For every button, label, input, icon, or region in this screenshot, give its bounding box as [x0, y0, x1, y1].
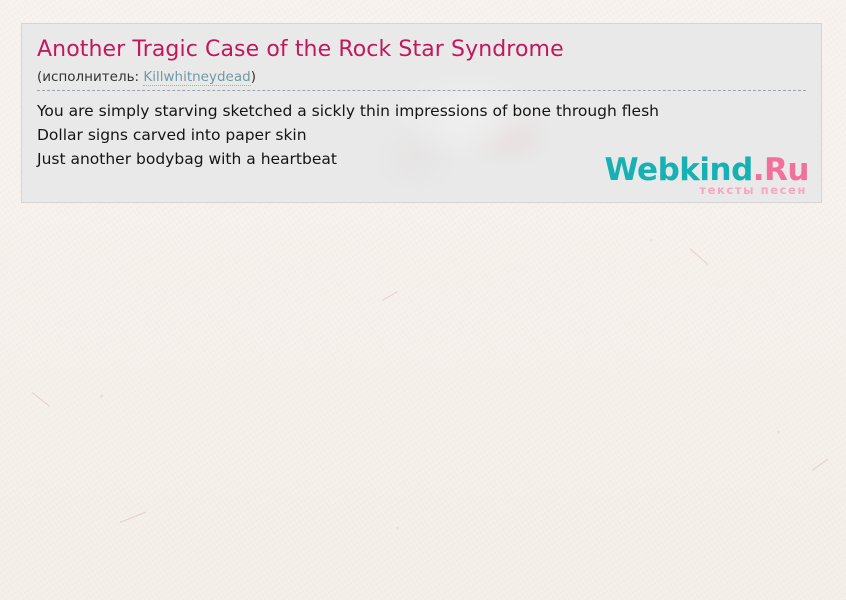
site-logo-wordmark: Webkind.Ru — [604, 153, 809, 187]
site-logo[interactable]: Webkind.Ru тексты песен — [604, 153, 809, 197]
artist-suffix-label: ) — [251, 69, 256, 85]
lyric-line: You are simply starving sketched a sickl… — [37, 99, 806, 123]
artist-link[interactable]: Killwhitneydead — [143, 69, 250, 86]
paper-scratch-mark — [120, 512, 146, 523]
artist-line: (исполнитель: Killwhitneydead) — [37, 68, 806, 91]
lyrics-card-content: Another Tragic Case of the Rock Star Syn… — [22, 24, 821, 171]
paper-scratch-mark — [32, 392, 50, 406]
page-title: Another Tragic Case of the Rock Star Syn… — [37, 36, 806, 64]
paper-scratch-mark — [382, 291, 398, 301]
lyrics-card: Another Tragic Case of the Rock Star Syn… — [21, 23, 822, 203]
paper-scratch-mark — [812, 458, 829, 471]
lyric-line: Dollar signs carved into paper skin — [37, 123, 806, 147]
paper-scratch-mark — [690, 248, 709, 265]
artist-prefix-label: (исполнитель: — [37, 69, 143, 85]
